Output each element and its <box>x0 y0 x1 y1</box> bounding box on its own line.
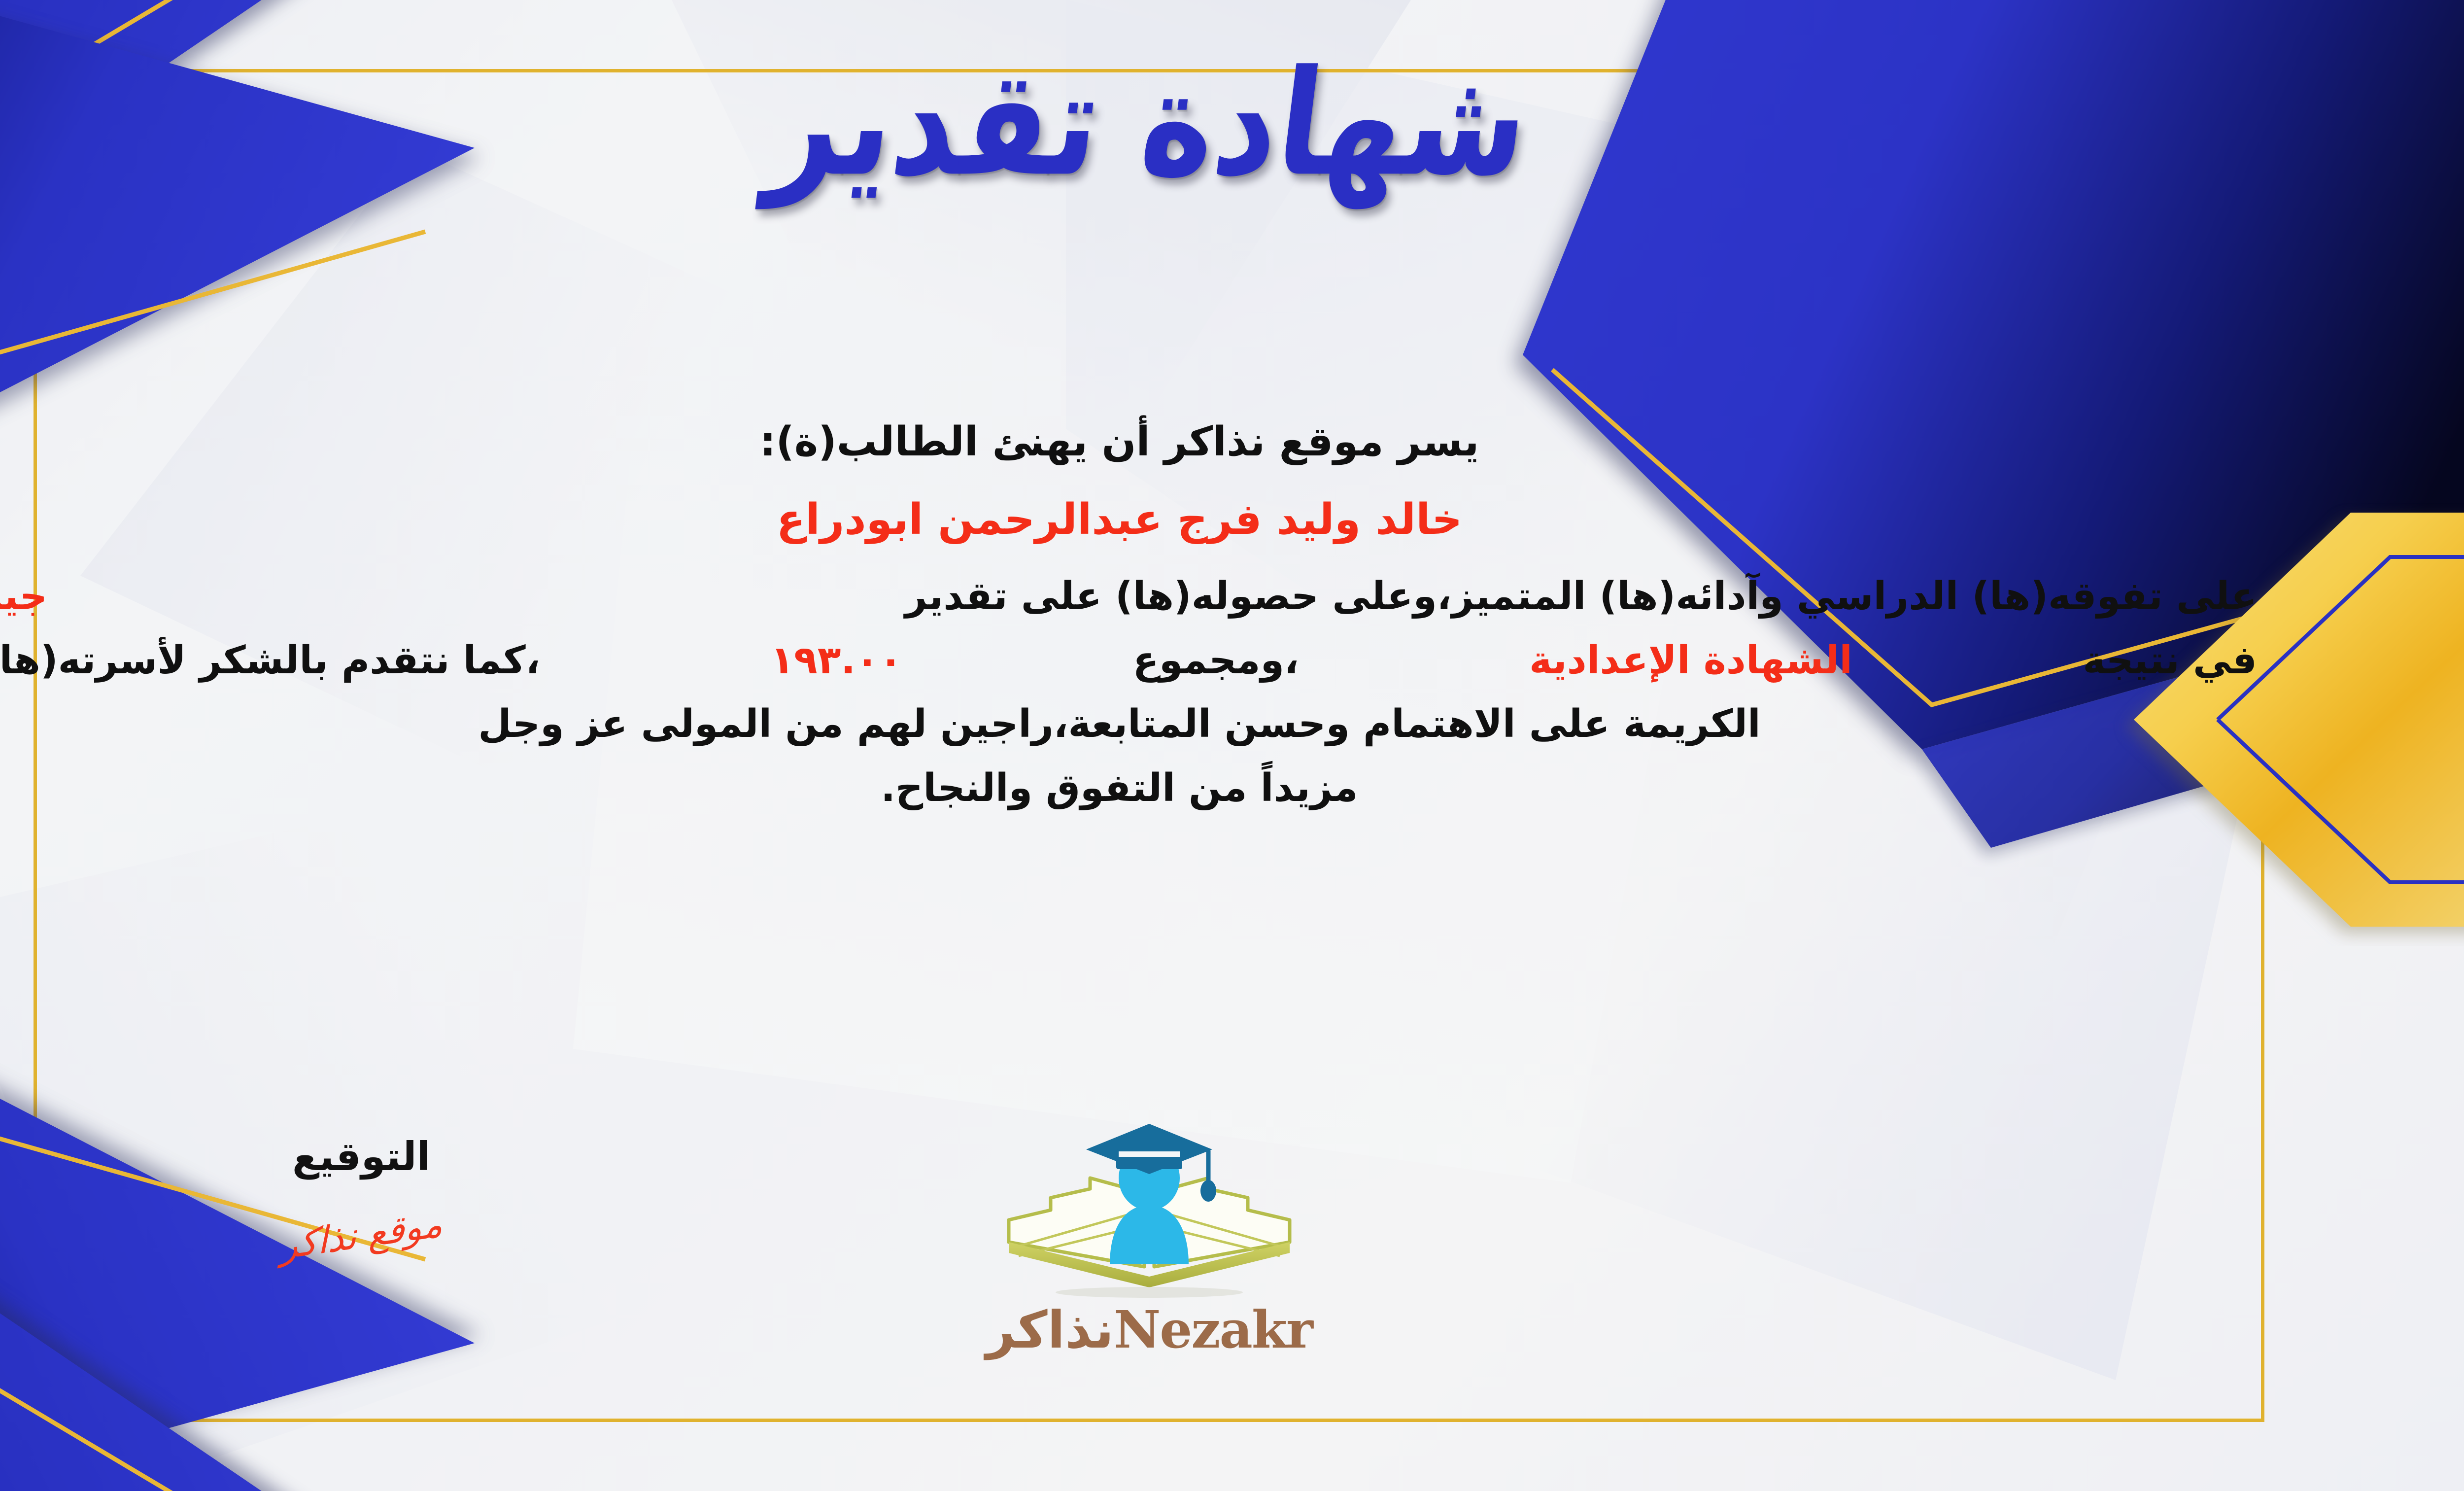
site-logo: Nezakrنذاكر <box>927 1119 1371 1360</box>
result-line: في نتيجة الشهادة الإعدادية ،ومجموع ١٩٣.٠… <box>0 634 2257 688</box>
certificate-body: يسر موقع نذاكر أن يهنئ الطالب(ة): خالد و… <box>0 414 2257 826</box>
logo-arabic-name: نذاكر <box>986 1300 1114 1360</box>
intro-line: يسر موقع نذاكر أن يهنئ الطالب(ة): <box>0 414 2257 470</box>
closing-line: مزيداً من التفوق والنجاح. <box>0 762 2257 815</box>
student-name: خالد وليد فرج عبدالرحمن ابودراع <box>0 492 2257 548</box>
achievement-text: على تفوقه(ها) الدراسي وآدائه(ها) المتميز… <box>905 570 2257 624</box>
grade-value: جيد <box>0 570 47 624</box>
result-prefix: في نتيجة <box>2083 634 2257 688</box>
signature-block: التوقيع موقع نذاكر <box>189 1134 534 1256</box>
logo-latin-name: Nezakr <box>1114 1299 1312 1360</box>
signature-label: التوقيع <box>189 1134 534 1179</box>
achievement-line: على تفوقه(ها) الدراسي وآدائه(ها) المتميز… <box>0 570 2257 624</box>
exam-name: الشهادة الإعدادية <box>1529 634 1852 688</box>
total-score: ١٩٣.٠٠ <box>771 634 903 688</box>
certificate-canvas: شهادة تقدير يسر موقع نذاكر أن يهنئ الطال… <box>0 0 2464 1491</box>
graduate-cap-book-icon <box>996 1119 1302 1301</box>
logo-wordmark: Nezakrنذاكر <box>927 1299 1371 1360</box>
thanks-prefix: ،كما نتقدم بالشكر لأسرته(ها) <box>0 634 540 688</box>
total-label: ،ومجموع <box>1133 634 1299 688</box>
certificate-title: شهادة تقدير <box>742 47 1556 200</box>
certificate-title-wrap: شهادة تقدير <box>0 59 2464 189</box>
thanks-line: الكريمة على الاهتمام وحسن المتابعة،راجين… <box>0 698 2257 751</box>
handwritten-signature: موقع نذاكر <box>279 1203 443 1268</box>
